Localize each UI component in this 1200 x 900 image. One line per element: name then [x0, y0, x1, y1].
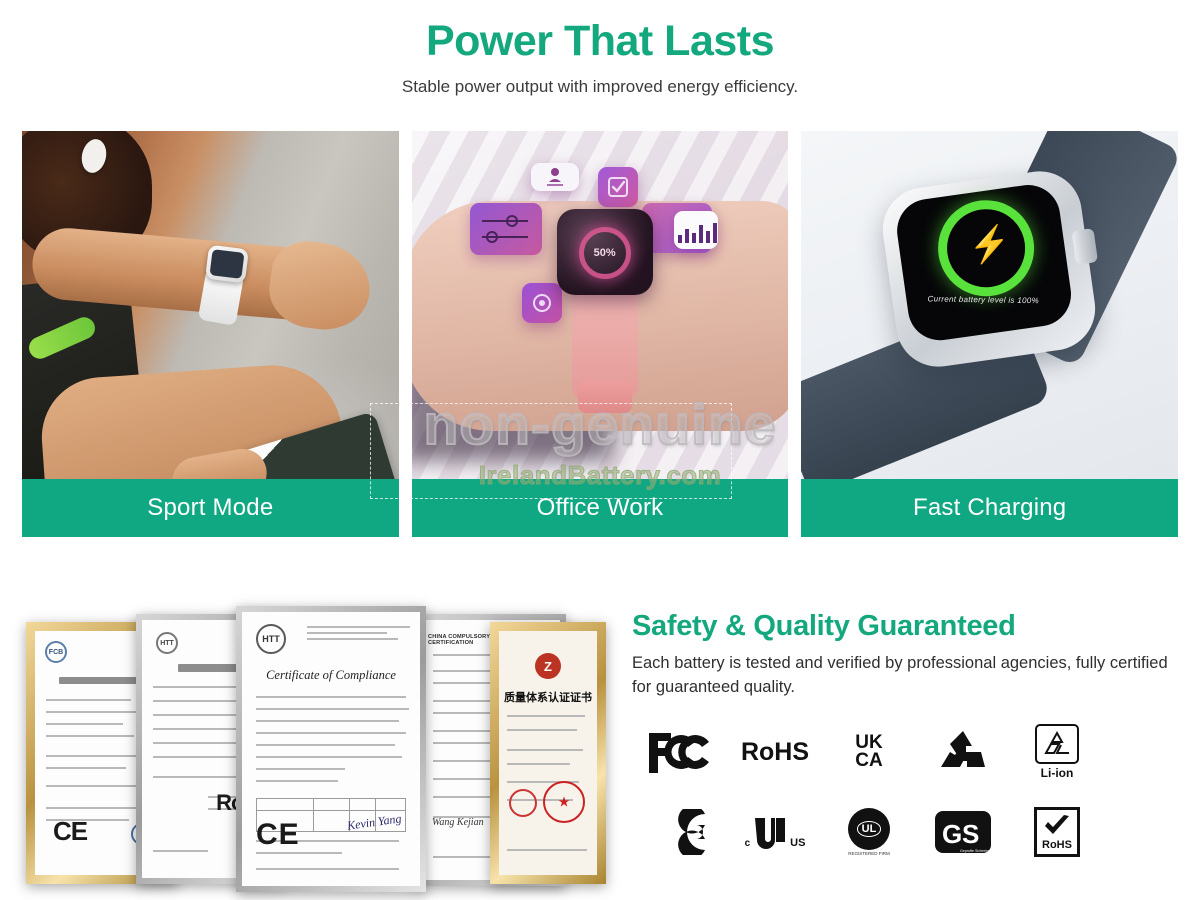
badge-row-1: RoHS UK CA: [634, 712, 1104, 792]
feature-card-label: Sport Mode: [22, 479, 399, 537]
bottom-section: FCB CE CE HTT: [0, 592, 1200, 900]
certificate-mark: CE: [53, 816, 87, 847]
page-title: Power That Lasts: [0, 18, 1200, 65]
feature-card-sport-mode[interactable]: Sport Mode: [22, 131, 399, 537]
certificate-heading: 质量体系认证证书: [503, 689, 593, 705]
signature: Wang Kejian: [432, 817, 484, 828]
safety-title: Safety & Quality Guaranteed: [632, 610, 1180, 643]
safety-description: Each battery is tested and verified by p…: [632, 652, 1180, 700]
htt-logo: HTT: [256, 624, 286, 654]
checkbox-tile: [598, 167, 638, 207]
chart-tile: [674, 211, 718, 249]
certificate-heading: Certificate of Compliance: [242, 668, 420, 683]
certificate-mark: CE: [256, 818, 300, 852]
feature-card-row: Sport Mode: [22, 131, 1178, 537]
feature-card-label: Fast Charging: [801, 479, 1178, 537]
settings-tile: [522, 283, 562, 323]
ukca-icon: UK CA: [822, 713, 916, 791]
ce-icon: [634, 793, 728, 871]
ul-recognized-icon: c US: [728, 793, 822, 871]
battery-gauge-value: 50%: [594, 247, 616, 259]
lightning-bolt-icon: ⚡: [967, 225, 1014, 265]
safety-section: Safety & Quality Guaranteed Each battery…: [632, 610, 1180, 700]
fcc-icon: [634, 713, 728, 791]
li-ion-recycle-icon: Li-ion: [1010, 713, 1104, 791]
sliders-tile: [470, 203, 542, 255]
rohs-text-icon: RoHS: [728, 713, 822, 791]
feature-card-label: Office Work: [412, 479, 789, 537]
feature-card-office-work[interactable]: 50% Office Work: [412, 131, 789, 537]
ul-registered-icon: UL REGISTERED FIRM: [822, 793, 916, 871]
battery-gauge: 50%: [579, 227, 631, 279]
certificate-chinese-quality[interactable]: Z 质量体系认证证书 ★: [490, 622, 606, 884]
certificate-gallery: FCB CE CE HTT: [18, 600, 608, 892]
recycle-icon: [916, 713, 1010, 791]
certification-badge-grid: RoHS UK CA: [634, 712, 1104, 872]
gs-mark-icon: G S Geprufte Sicherheit: [916, 793, 1010, 871]
certificate-mark: Z: [535, 653, 561, 679]
svg-text:G: G: [942, 819, 962, 849]
fast-charging-photo: ⚡ Current battery level is 100%: [801, 131, 1178, 537]
rohs-check-icon: RoHS: [1010, 793, 1104, 871]
feature-card-fast-charging[interactable]: ⚡ Current battery level is 100% Fast Cha…: [801, 131, 1178, 537]
watch-screen-text: Current battery level is 100%: [928, 294, 1088, 306]
badge-row-2: c US UL REGISTERED FIRM: [634, 792, 1104, 872]
page-header: Power That Lasts Stable power output wit…: [0, 0, 1200, 97]
sport-mode-photo: [22, 131, 399, 537]
page-subtitle: Stable power output with improved energy…: [0, 77, 1200, 97]
certificate-compliance[interactable]: HTT Certificate of Compliance: [236, 606, 426, 892]
contact-card-tile: [531, 163, 579, 191]
product-feature-page: Power That Lasts Stable power output wit…: [0, 0, 1200, 900]
office-work-photo: 50%: [412, 131, 789, 537]
svg-text:S: S: [962, 819, 979, 849]
